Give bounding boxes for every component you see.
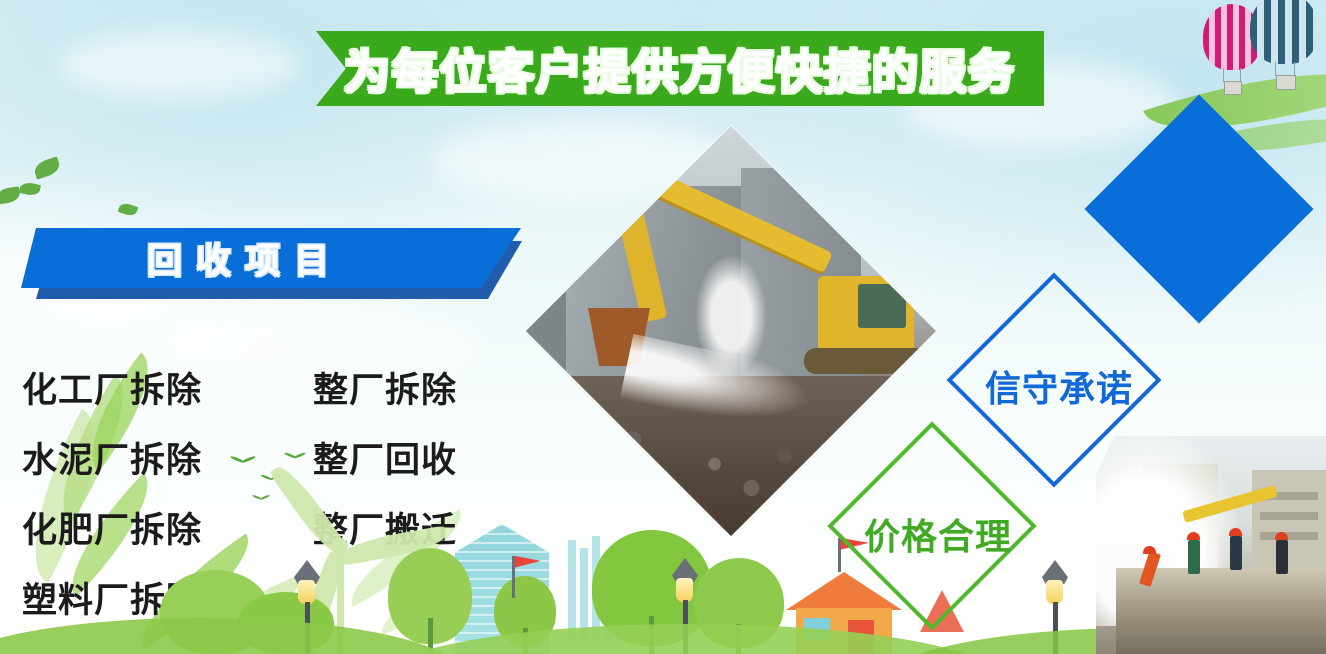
service-item: 化工厂拆除 — [22, 362, 202, 413]
service-item: 化肥厂拆除 — [22, 502, 202, 553]
section-banner: 回收项目 — [21, 228, 521, 288]
badge-label-trust: 信守承诺 — [985, 360, 1133, 412]
section-title: 回收项目 — [147, 233, 343, 284]
bird-icon — [230, 452, 256, 466]
workers-demolition-photo — [1096, 436, 1326, 654]
bird-icon — [252, 492, 270, 502]
banner-canvas: 为每位客户提供方便快捷的服务 回收项目 化工厂拆除 水泥厂拆除 化肥厂拆除 塑料… — [0, 0, 1326, 654]
hot-air-balloon-teal — [1250, 0, 1318, 88]
badge-label-price: 价格合理 — [864, 508, 1012, 560]
building-bar-icon — [568, 540, 576, 640]
service-item: 整厂拆除 — [313, 362, 457, 413]
headline-text: 为每位客户提供方便快捷的服务 — [344, 36, 1016, 102]
headline-ribbon: 为每位客户提供方便快捷的服务 — [316, 31, 1044, 106]
service-item: 水泥厂拆除 — [22, 432, 202, 483]
bird-icon — [284, 449, 306, 461]
service-item: 整厂回收 — [313, 432, 457, 483]
cloud-patch — [60, 30, 300, 100]
